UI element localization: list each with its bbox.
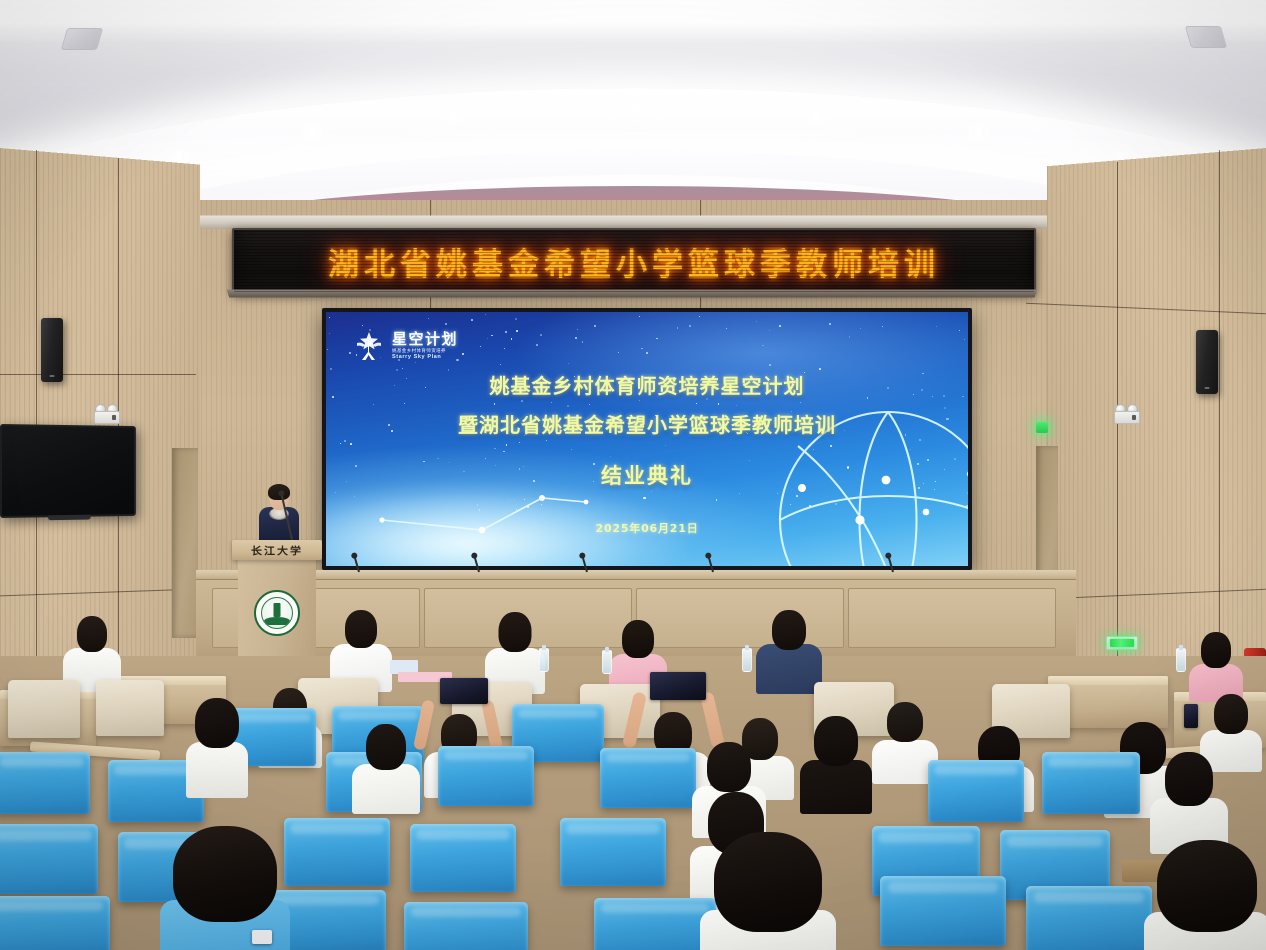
auditorium-seat	[0, 824, 98, 894]
attendee	[352, 724, 420, 810]
starry-sky-plan-logo: 星空计划 姚基金乡村体育师资培养 Starry Sky Plan	[352, 330, 458, 362]
exit-sign	[1036, 422, 1048, 433]
auditorium-seat	[594, 898, 716, 950]
wall-mounted-tv	[0, 424, 136, 518]
recessed-downlight	[306, 128, 319, 137]
water-bottle	[539, 648, 549, 672]
stage-side-door[interactable]	[172, 448, 198, 638]
screen-title-line-1: 姚基金乡村体育师资培养星空计划	[326, 370, 968, 399]
recessed-downlight	[447, 112, 460, 121]
auditorium-seat	[880, 876, 1006, 946]
stage-armchair	[8, 680, 80, 738]
auditorium-seat	[1026, 886, 1152, 950]
auditorium-seat	[404, 902, 528, 950]
wall-speaker	[1196, 330, 1218, 394]
ceiling-top-strip	[0, 0, 1266, 42]
recessed-downlight	[630, 105, 643, 114]
university-emblem	[254, 590, 300, 636]
head-table	[848, 588, 1056, 648]
emergency-light-body	[1114, 411, 1140, 424]
presentation-screen: 星空计划 姚基金乡村体育师资培养 Starry Sky Plan 姚基金乡村体育…	[326, 312, 968, 566]
screen-title-block: 姚基金乡村体育师资培养星空计划 暨湖北省姚基金希望小学篮球季教师培训 结业典礼	[326, 370, 968, 490]
attendee	[1188, 632, 1244, 700]
led-banner-text: 湖北省姚基金希望小学篮球季教师培训	[328, 239, 940, 284]
auditorium-seat	[1042, 752, 1140, 814]
smartphone[interactable]	[1184, 704, 1198, 728]
attendee	[186, 698, 248, 794]
logo-title: 星空计划	[392, 332, 458, 347]
auditorium-seat	[0, 896, 110, 950]
smartphone[interactable]	[440, 678, 488, 704]
smartphone[interactable]	[650, 672, 706, 700]
wall-panel-seam	[0, 374, 196, 375]
ceiling-air-vent	[61, 28, 103, 50]
led-banner-base	[227, 290, 1038, 298]
podium: 长江大学	[236, 540, 318, 670]
attendee	[800, 716, 872, 810]
attendee	[1150, 752, 1228, 850]
attendee-foreground	[1144, 840, 1266, 950]
stage-armchair	[96, 680, 164, 736]
exit-sign-glow	[1110, 639, 1134, 647]
ceiling-air-vent	[1185, 26, 1227, 48]
attendee-foreground	[700, 832, 836, 950]
smartphone[interactable]	[252, 930, 272, 944]
wall-panel-seam	[1117, 162, 1118, 714]
water-bottle	[1176, 648, 1186, 672]
podium-name-plate: 长江大学	[232, 544, 322, 559]
exit-sign	[1106, 636, 1138, 650]
podium-body	[238, 560, 316, 670]
water-bottle	[742, 648, 752, 672]
emergency-light	[94, 404, 118, 424]
auditorium-seat	[0, 752, 90, 814]
logo-subtitle-cn: 姚基金乡村体育师资培养	[392, 349, 458, 354]
recessed-downlight	[810, 112, 823, 121]
emergency-light	[1114, 404, 1138, 424]
wall-speaker	[41, 318, 63, 382]
attendee	[484, 612, 546, 692]
auditorium-seat	[284, 818, 390, 886]
person-star-icon	[352, 330, 386, 362]
attendee	[756, 610, 822, 692]
podium-top: 长江大学	[232, 540, 322, 560]
emergency-light-body	[94, 411, 120, 424]
emblem-inner	[261, 597, 293, 629]
water-bottle	[602, 650, 612, 674]
auditorium-seat	[560, 818, 666, 886]
screen-title-line-2: 暨湖北省姚基金希望小学篮球季教师培训	[326, 409, 968, 438]
led-banner: 湖北省姚基金希望小学篮球季教师培训	[232, 228, 1036, 294]
attendee	[62, 616, 122, 690]
auditorium-scene: 湖北省姚基金希望小学篮球季教师培训	[0, 0, 1266, 950]
auditorium-seat	[410, 824, 516, 892]
led-banner-shelf	[193, 215, 1078, 229]
auditorium-seat	[928, 760, 1024, 822]
logo-text-block: 星空计划 姚基金乡村体育师资培养 Starry Sky Plan	[392, 332, 458, 360]
recessed-downlight	[972, 128, 985, 137]
screen-title-line-3: 结业典礼	[326, 460, 968, 490]
screen-date: 2025年06月21日	[326, 520, 968, 536]
logo-subtitle-en: Starry Sky Plan	[392, 355, 458, 361]
auditorium-seat	[438, 746, 534, 806]
auditorium-seat	[600, 748, 696, 808]
presentation-screen-bezel: 星空计划 姚基金乡村体育师资培养 Starry Sky Plan 姚基金乡村体育…	[322, 308, 972, 570]
stage-table-top	[196, 570, 1076, 579]
recessed-downlight	[172, 153, 185, 162]
